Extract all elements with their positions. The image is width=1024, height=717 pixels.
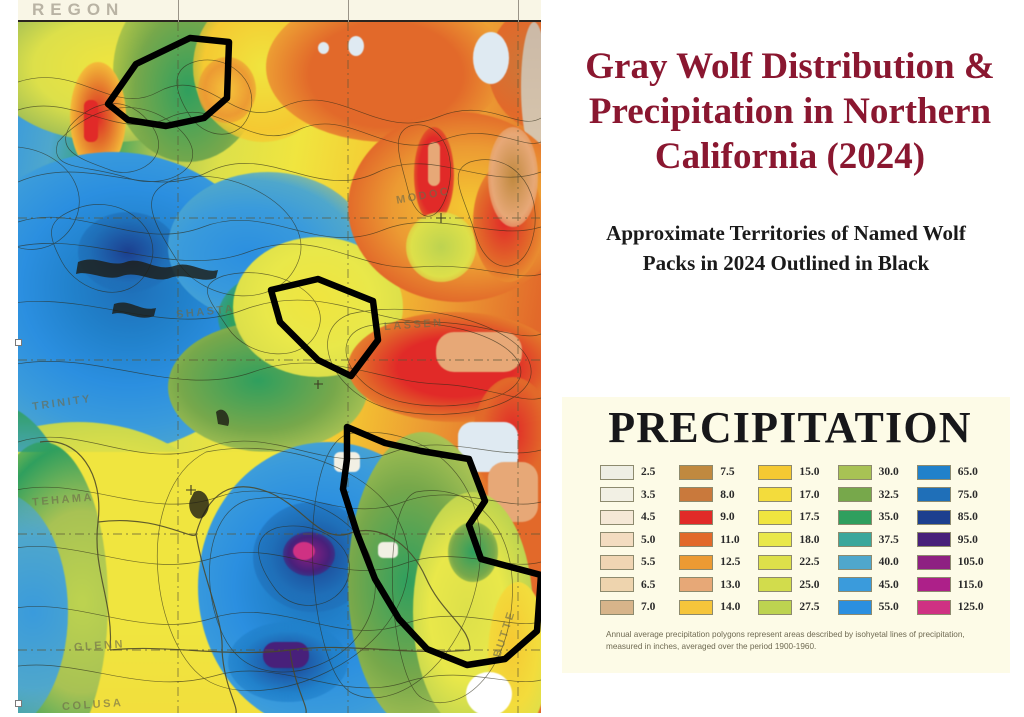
legend-swatch [679,600,713,615]
legend-row: 7.5 [679,461,758,484]
legend-swatch-label: 95.0 [958,534,978,546]
precipitation-legend: PRECIPITATION 2.53.54.55.05.56.57.07.58.… [562,397,1010,673]
legend-row: 8.0 [679,484,758,507]
legend-swatch-label: 45.0 [879,579,899,591]
legend-swatch [917,600,951,615]
legend-swatch [917,510,951,525]
legend-swatch-label: 55.0 [879,601,899,613]
legend-row: 25.0 [758,574,837,597]
legend-swatch-label: 22.5 [799,556,819,568]
legend-swatch-label: 25.0 [799,579,819,591]
legend-swatch-label: 17.0 [799,489,819,501]
legend-swatch-label: 13.0 [720,579,740,591]
legend-row: 17.0 [758,484,837,507]
legend-swatch-label: 30.0 [879,466,899,478]
legend-row: 5.5 [600,551,679,574]
legend-swatch-label: 7.5 [720,466,734,478]
legend-swatch-label: 12.5 [720,556,740,568]
legend-row: 2.5 [600,461,679,484]
legend-column-4: 30.032.535.037.540.045.055.0 [838,461,917,619]
legend-swatch-label: 5.5 [641,556,655,568]
state-label-oregon: REGON [32,0,124,20]
legend-swatch [917,532,951,547]
legend-row: 12.5 [679,551,758,574]
map-frame: REGON [18,0,541,713]
legend-swatch [600,532,634,547]
legend-column-2: 7.58.09.011.012.513.014.0 [679,461,758,619]
legend-swatch-label: 37.5 [879,534,899,546]
legend-swatch [758,510,792,525]
legend-swatch-label: 3.5 [641,489,655,501]
legend-swatch [600,487,634,502]
legend-row: 45.0 [838,574,917,597]
legend-swatch-label: 115.0 [958,579,983,591]
legend-row: 4.5 [600,506,679,529]
legend-row: 75.0 [917,484,996,507]
legend-swatch [838,465,872,480]
legend-swatch-grid: 2.53.54.55.05.56.57.07.58.09.011.012.513… [600,461,996,619]
legend-swatch [838,532,872,547]
legend-title: PRECIPITATION [584,400,996,456]
oregon-header-strip: REGON [18,0,541,22]
legend-swatch-label: 35.0 [879,511,899,523]
legend-row: 5.0 [600,529,679,552]
legend-row: 115.0 [917,574,996,597]
legend-swatch [758,487,792,502]
legend-column-1: 2.53.54.55.05.56.57.0 [600,461,679,619]
legend-swatch [600,465,634,480]
legend-footnote: Annual average precipitation polygons re… [606,629,978,652]
legend-swatch-label: 65.0 [958,466,978,478]
legend-swatch-label: 85.0 [958,511,978,523]
legend-row: 18.0 [758,529,837,552]
legend-swatch [838,577,872,592]
legend-row: 37.5 [838,529,917,552]
legend-swatch [600,510,634,525]
legend-swatch [679,532,713,547]
legend-swatch-label: 9.0 [720,511,734,523]
legend-swatch [758,532,792,547]
legend-swatch [679,510,713,525]
legend-swatch [838,600,872,615]
legend-swatch-label: 40.0 [879,556,899,568]
legend-row: 11.0 [679,529,758,552]
legend-swatch [917,577,951,592]
selection-handle-left-middle[interactable] [15,339,22,346]
legend-row: 6.5 [600,574,679,597]
selection-handle-bottom-left[interactable] [15,700,22,707]
legend-row: 22.5 [758,551,837,574]
legend-row: 17.5 [758,506,837,529]
legend-swatch-label: 75.0 [958,489,978,501]
legend-swatch [838,510,872,525]
legend-swatch-label: 5.0 [641,534,655,546]
legend-swatch-label: 105.0 [958,556,984,568]
legend-swatch [679,465,713,480]
precipitation-raster: SHASTA MODOC LASSEN TRINITY TEHAMA GLENN… [18,22,541,713]
legend-swatch [758,465,792,480]
legend-swatch-label: 4.5 [641,511,655,523]
legend-swatch [917,487,951,502]
legend-swatch-label: 17.5 [799,511,819,523]
legend-swatch-label: 27.5 [799,601,819,613]
legend-swatch [600,600,634,615]
legend-swatch-label: 32.5 [879,489,899,501]
legend-swatch [679,487,713,502]
legend-swatch [679,577,713,592]
legend-swatch [758,600,792,615]
legend-swatch [838,555,872,570]
legend-row: 35.0 [838,506,917,529]
legend-swatch-label: 11.0 [720,534,740,546]
legend-swatch [758,555,792,570]
page-title: Gray Wolf Distribution & Precipitation i… [551,44,1024,179]
legend-row: 32.5 [838,484,917,507]
legend-swatch-label: 6.5 [641,579,655,591]
legend-swatch [838,487,872,502]
legend-row: 7.0 [600,596,679,619]
legend-swatch-label: 18.0 [799,534,819,546]
legend-swatch-label: 7.0 [641,601,655,613]
legend-row: 40.0 [838,551,917,574]
legend-row: 105.0 [917,551,996,574]
text-panel: Gray Wolf Distribution & Precipitation i… [541,0,1024,717]
legend-swatch-label: 125.0 [958,601,984,613]
legend-swatch-label: 15.0 [799,466,819,478]
legend-swatch [600,577,634,592]
legend-row: 65.0 [917,461,996,484]
legend-row: 14.0 [679,596,758,619]
legend-swatch [600,555,634,570]
legend-column-3: 15.017.017.518.022.525.027.5 [758,461,837,619]
legend-swatch-label: 14.0 [720,601,740,613]
legend-row: 13.0 [679,574,758,597]
legend-swatch [679,555,713,570]
legend-swatch [917,465,951,480]
legend-row: 30.0 [838,461,917,484]
legend-swatch-label: 2.5 [641,466,655,478]
legend-row: 55.0 [838,596,917,619]
legend-column-5: 65.075.085.095.0105.0115.0125.0 [917,461,996,619]
legend-row: 15.0 [758,461,837,484]
legend-row: 95.0 [917,529,996,552]
legend-row: 27.5 [758,596,837,619]
page-subtitle: Approximate Territories of Named Wolf Pa… [581,218,991,278]
legend-swatch-label: 8.0 [720,489,734,501]
slide-canvas: REGON [0,0,1024,717]
legend-row: 3.5 [600,484,679,507]
legend-swatch [758,577,792,592]
legend-row: 9.0 [679,506,758,529]
map-image-object[interactable]: REGON [0,0,541,713]
legend-row: 125.0 [917,596,996,619]
legend-row: 85.0 [917,506,996,529]
legend-swatch [917,555,951,570]
